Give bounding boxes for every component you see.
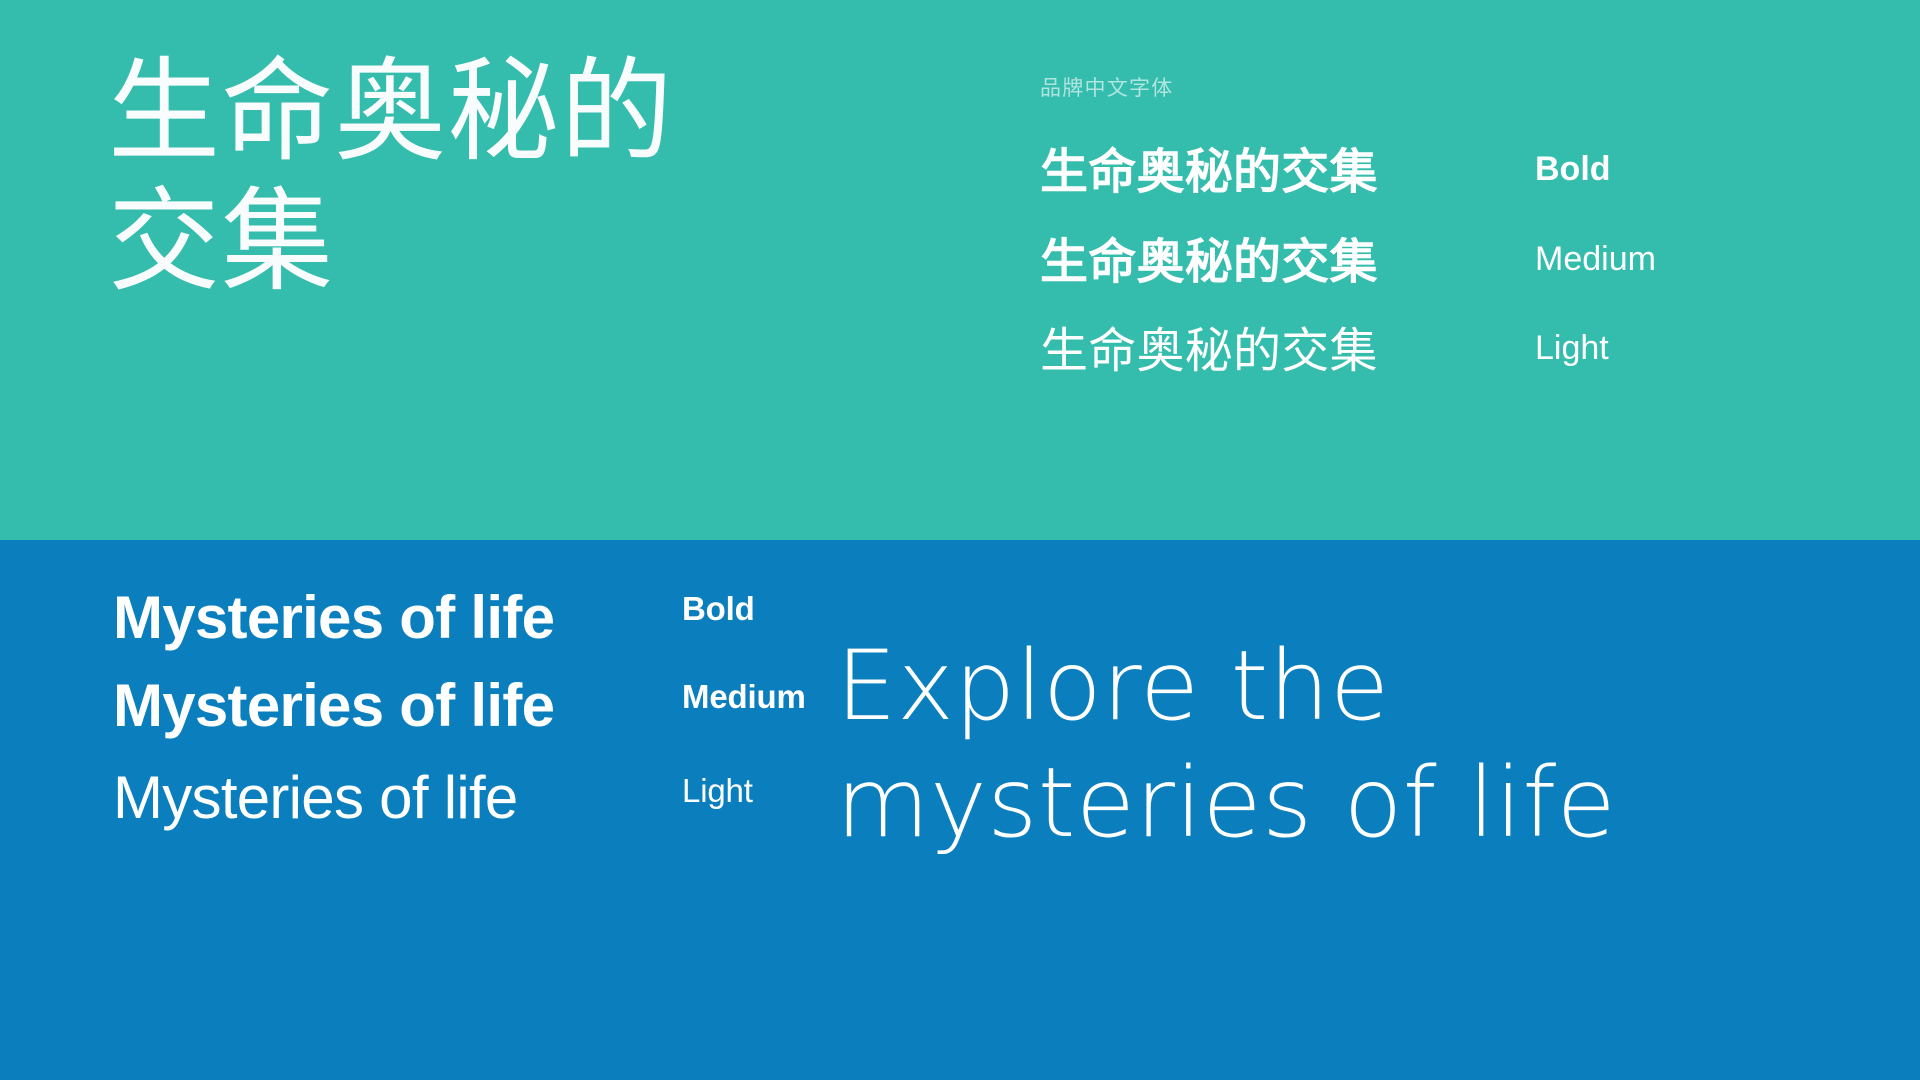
chinese-display-headline: 生命奥秘的 交集	[108, 48, 808, 308]
chinese-section-label: 品牌中文字体	[1040, 72, 1174, 102]
english-display-headline: Explore the mysteries of life	[836, 628, 1896, 862]
english-weight-label-medium: Medium	[682, 680, 806, 713]
chinese-specimen-bold: 生命奥秘的交集	[1040, 148, 1378, 196]
english-specimen-medium: Mysteries of life	[113, 676, 554, 736]
chinese-weight-label-light: Light	[1535, 331, 1609, 365]
english-font-panel: Brand English Font Mysteries of life Bol…	[0, 540, 1920, 1080]
chinese-specimen-light: 生命奥秘的交集	[1040, 327, 1378, 375]
chinese-specimen-medium: 生命奥秘的交集	[1040, 238, 1378, 286]
chinese-weight-label-bold: Bold	[1535, 152, 1611, 186]
chinese-weight-row-medium: 生命奥秘的交集	[1040, 238, 1378, 286]
chinese-font-panel: 生命奥秘的 交集 品牌中文字体 生命奥秘的交集 Bold 生命奥秘的交集 Med…	[0, 0, 1920, 540]
english-specimen-bold: Mysteries of life	[113, 588, 554, 648]
english-weight-label-bold: Bold	[682, 592, 755, 625]
typography-specimen-page: 生命奥秘的 交集 品牌中文字体 生命奥秘的交集 Bold 生命奥秘的交集 Med…	[0, 0, 1920, 1080]
english-section-label: Brand English Font	[115, 540, 337, 541]
english-weight-row-light: Mysteries of life	[113, 768, 518, 828]
english-weight-label-light: Light	[682, 774, 753, 807]
english-weight-row-bold: Mysteries of life	[113, 588, 554, 648]
chinese-weight-row-light: 生命奥秘的交集	[1040, 327, 1378, 375]
english-weight-row-medium: Mysteries of life	[113, 676, 554, 736]
english-specimen-light: Mysteries of life	[113, 768, 518, 828]
chinese-weight-label-medium: Medium	[1535, 242, 1656, 276]
chinese-weight-row-bold: 生命奥秘的交集	[1040, 148, 1378, 196]
